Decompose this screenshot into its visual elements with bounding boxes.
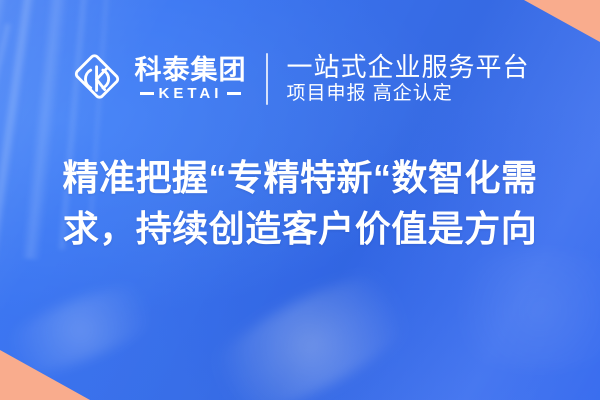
brand-lockup[interactable]: 科泰集团 KETAI [70, 52, 246, 106]
headline-line-1: 精准把握“专精特新“数智化需 [0, 152, 600, 203]
headline-line-2: 求，持续创造客户价值是方向 [0, 203, 600, 254]
headline: 精准把握“专精特新“数智化需 求，持续创造客户价值是方向 [0, 152, 600, 254]
brand-name-en-text: KETAI [159, 86, 223, 101]
brand-name-cn: 科泰集团 [134, 57, 246, 84]
ketai-diamond-monogram-icon [70, 52, 124, 106]
tagline-sub: 项目申报 高企认定 [286, 84, 529, 105]
dash-right-icon [227, 92, 241, 95]
dash-left-icon [140, 92, 154, 95]
promo-banner: 科泰集团 KETAI 一站式企业服务平台 项目申报 高企认定 精准把握“专精特新… [0, 0, 600, 400]
tagline-group: 一站式企业服务平台 项目申报 高企认定 [286, 53, 529, 105]
vertical-divider [266, 53, 268, 105]
tagline-main: 一站式企业服务平台 [286, 53, 529, 82]
brand-header: 科泰集团 KETAI 一站式企业服务平台 项目申报 高企认定 [0, 44, 600, 114]
brand-name-en: KETAI [140, 86, 242, 101]
